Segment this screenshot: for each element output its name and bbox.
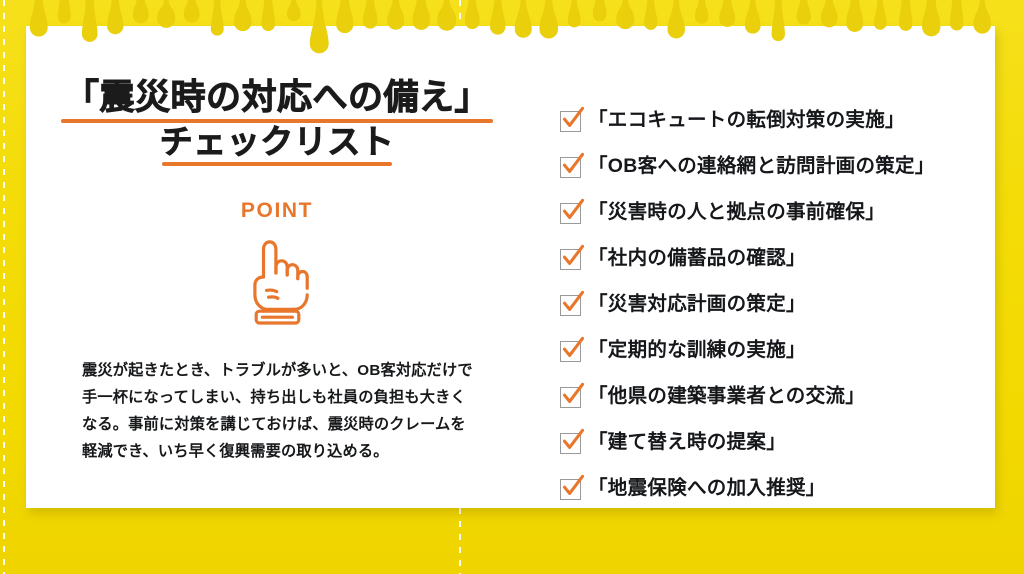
checklist-item-label: 「OB客への連絡網と訪問計画の策定」	[588, 157, 935, 177]
checklist-item-label: 「災害時の人と拠点の事前確保」	[588, 203, 885, 223]
infographic-slide: 「震災時の対応への備え」 チェックリスト POINT	[0, 0, 1024, 574]
checklist-item-label: 「他県の建築事業者との交流」	[588, 387, 865, 407]
checkbox[interactable]	[560, 433, 581, 454]
checkbox[interactable]	[560, 295, 581, 316]
checklist-item[interactable]: 「他県の建築事業者との交流」	[560, 374, 980, 420]
title-line-1: 「震災時の対応への備え」	[64, 78, 490, 118]
orange-checkmark-icon	[560, 473, 586, 499]
orange-checkmark-icon	[560, 105, 586, 131]
title-line-2: チェックリスト	[160, 123, 395, 161]
point-label: POINT	[62, 199, 492, 223]
page-title: 「震災時の対応への備え」 チェックリスト	[62, 78, 492, 161]
checklist-item-label: 「定期的な訓練の実施」	[588, 341, 806, 361]
checklist-item-label: 「建て替え時の提案」	[588, 433, 786, 453]
lead-paragraph: 震災が起きたとき、トラブルが多いと、OB客対応だけで手一杯になってしまい、持ち出…	[82, 357, 474, 465]
checkbox[interactable]	[560, 111, 581, 132]
checkbox[interactable]	[560, 249, 581, 270]
pointing-up-hand-icon	[62, 231, 492, 327]
checklist-item-label: 「災害対応計画の策定」	[588, 295, 806, 315]
checklist: 「エコキュートの転倒対策の実施」「OB客への連絡網と訪問計画の策定」「災害時の人…	[560, 98, 980, 512]
title-line-2-text: チェックリスト	[160, 123, 395, 160]
orange-checkmark-icon	[560, 381, 586, 407]
checklist-item[interactable]: 「災害時の人と拠点の事前確保」	[560, 190, 980, 236]
dashed-guide-bottom-center	[459, 508, 461, 574]
checklist-item-label: 「地震保険への加入推奨」	[588, 479, 826, 499]
checklist-item-label: 「エコキュートの転倒対策の実施」	[588, 111, 905, 131]
checkbox[interactable]	[560, 157, 581, 178]
checklist-item[interactable]: 「災害対応計画の策定」	[560, 282, 980, 328]
title-line-1-text: 「震災時の対応への備え」	[64, 78, 490, 117]
checklist-item[interactable]: 「エコキュートの転倒対策の実施」	[560, 98, 980, 144]
checkbox[interactable]	[560, 203, 581, 224]
dashed-guide-left	[3, 0, 5, 574]
checkbox[interactable]	[560, 341, 581, 362]
checkbox[interactable]	[560, 387, 581, 408]
checklist-item[interactable]: 「OB客への連絡網と訪問計画の策定」	[560, 144, 980, 190]
checklist-item[interactable]: 「社内の備蓄品の確認」	[560, 236, 980, 282]
orange-checkmark-icon	[560, 151, 586, 177]
orange-checkmark-icon	[560, 427, 586, 453]
checklist-item[interactable]: 「定期的な訓練の実施」	[560, 328, 980, 374]
checkbox[interactable]	[560, 479, 581, 500]
checklist-item[interactable]: 「地震保険への加入推奨」	[560, 466, 980, 512]
point-section: POINT	[62, 199, 492, 327]
orange-checkmark-icon	[560, 243, 586, 269]
title-underline-2	[162, 162, 393, 166]
orange-checkmark-icon	[560, 289, 586, 315]
checklist-item[interactable]: 「建て替え時の提案」	[560, 420, 980, 466]
checklist-item-label: 「社内の備蓄品の確認」	[588, 249, 806, 269]
orange-checkmark-icon	[560, 197, 586, 223]
orange-checkmark-icon	[560, 335, 586, 361]
dashed-guide-top-center	[459, 0, 461, 26]
left-column: 「震災時の対応への備え」 チェックリスト POINT	[62, 78, 492, 480]
